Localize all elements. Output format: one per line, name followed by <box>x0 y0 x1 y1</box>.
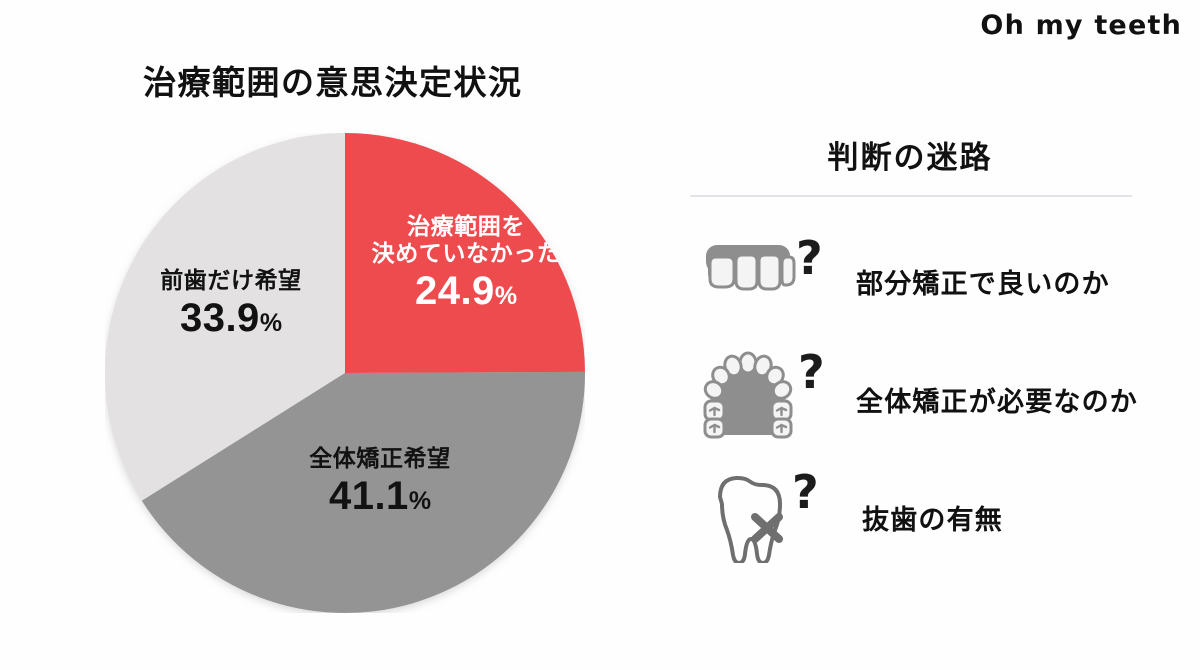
question-mark-icon: ? <box>798 349 825 395</box>
list-item: ? 抜歯の有無 <box>700 458 1170 576</box>
list-item-label: 部分矯正で良いのか <box>856 262 1110 301</box>
front-teeth-icon: ? <box>700 231 828 331</box>
list-item: ? 全体矯正が必要なのか <box>700 340 1170 458</box>
list-item-label: 全体矯正が必要なのか <box>856 380 1138 419</box>
chart-title: 治療範囲の意思決定状況 <box>143 56 523 104</box>
question-mark-icon: ? <box>796 235 823 281</box>
dental-arch-icon: ? <box>700 349 828 449</box>
pie-slice-undecided <box>345 133 585 373</box>
tooth-extraction-icon: ? <box>700 467 828 567</box>
question-mark-icon: ? <box>792 469 819 515</box>
pie-chart <box>105 133 585 613</box>
list-item: ? 部分矯正で良いのか <box>700 222 1170 340</box>
slide-canvas: Oh my teeth 治療範囲の意思決定状況 治療範囲を 決めていなかった 2… <box>0 0 1200 670</box>
brand-logo: Oh my teeth <box>980 10 1182 41</box>
panel-divider <box>690 195 1132 197</box>
panel-title: 判断の迷路 <box>690 132 1130 177</box>
question-list: ? 部分矯正で良いのか <box>700 222 1170 576</box>
list-item-label: 抜歯の有無 <box>862 498 1003 537</box>
